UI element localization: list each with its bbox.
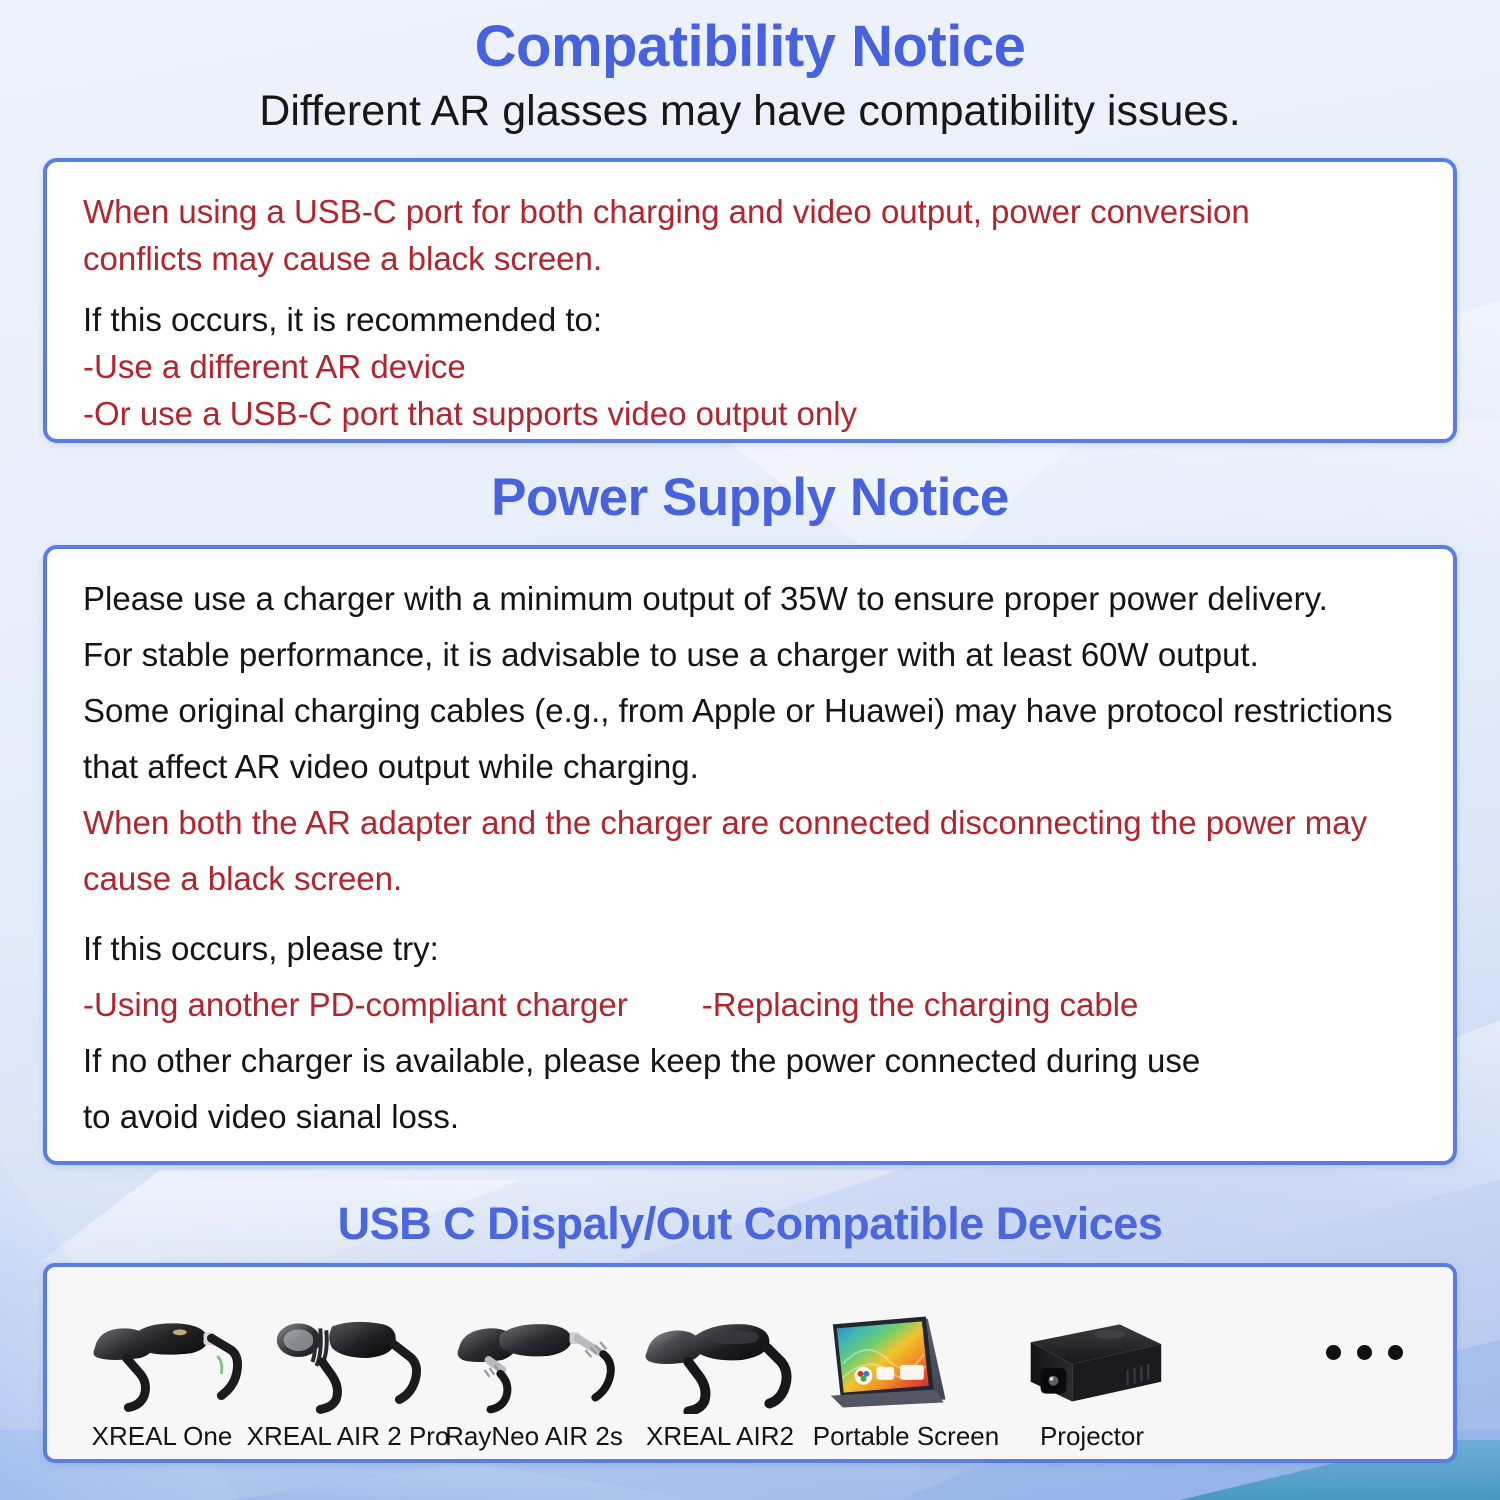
projector-icon (1003, 1303, 1181, 1415)
device-label: Projector (1040, 1421, 1144, 1451)
compat-option-2: -Or use a USB-C port that supports video… (83, 390, 1417, 437)
compat-option-1: -Use a different AR device (83, 343, 1417, 390)
device-item-xreal-air-2-pro[interactable]: XREAL AIR 2 Pro (255, 1277, 441, 1463)
compat-warning-line-2: conflicts may cause a black screen. (83, 235, 1417, 282)
power-closing-line-2: to avoid video sianal loss. (83, 1089, 1419, 1145)
spacer (83, 907, 1419, 921)
portable-monitor-icon (817, 1303, 995, 1415)
compat-prompt: If this occurs, it is recommended to: (83, 296, 1417, 343)
power-prompt: If this occurs, please try: (83, 921, 1419, 977)
device-label: RayNeo AIR 2s (445, 1421, 623, 1451)
ar-glasses-icon (259, 1303, 437, 1415)
power-line-1: Please use a charger with a minimum outp… (83, 571, 1419, 627)
device-label: XREAL One (92, 1421, 233, 1451)
page-title-compatibility: Compatibility Notice (0, 14, 1500, 80)
more-devices-button[interactable] (1289, 1277, 1439, 1463)
power-warning-line-2: cause a black screen. (83, 851, 1419, 907)
device-item-portable-screen[interactable]: Portable Screen (813, 1277, 999, 1463)
infographic-page: Compatibility Notice Different AR glasse… (0, 0, 1500, 1500)
more-dots-icon (1326, 1345, 1403, 1360)
ar-glasses-icon (631, 1303, 809, 1415)
compatible-devices-strip: XREAL One (43, 1263, 1457, 1463)
page-title-compatible-devices: USB C Dispaly/Out Compatible Devices (0, 1196, 1500, 1252)
power-options-row: -Using another PD-compliant charger -Rep… (83, 977, 1419, 1033)
spacer (83, 282, 1417, 296)
ar-glasses-icon (73, 1303, 251, 1415)
device-item-rayneo-air-2s[interactable]: RayNeo AIR 2s (441, 1277, 627, 1463)
power-supply-notice-box: Please use a charger with a minimum outp… (43, 545, 1457, 1165)
device-label: XREAL AIR 2 Pro (247, 1421, 450, 1451)
power-option-2: -Replacing the charging cable (702, 977, 1139, 1033)
device-label: XREAL AIR2 (646, 1421, 794, 1451)
ar-glasses-icon (445, 1303, 623, 1415)
device-label: Portable Screen (813, 1421, 999, 1451)
power-line-3: Some original charging cables (e.g., fro… (83, 683, 1419, 739)
power-line-2: For stable performance, it is advisable … (83, 627, 1419, 683)
power-closing-line-1: If no other charger is available, please… (83, 1033, 1419, 1089)
subtitle-compatibility: Different AR glasses may have compatibil… (0, 84, 1500, 138)
device-item-xreal-air2[interactable]: XREAL AIR2 (627, 1277, 813, 1463)
page-title-power-supply: Power Supply Notice (0, 466, 1500, 530)
device-item-projector[interactable]: Projector (999, 1277, 1185, 1463)
power-option-1: -Using another PD-compliant charger (83, 977, 628, 1033)
compat-warning-line-1: When using a USB-C port for both chargin… (83, 188, 1417, 235)
power-warning-line-1: When both the AR adapter and the charger… (83, 795, 1419, 851)
power-line-4: that affect AR video output while chargi… (83, 739, 1419, 795)
compatibility-notice-box: When using a USB-C port for both chargin… (43, 158, 1457, 443)
device-item-xreal-one[interactable]: XREAL One (69, 1277, 255, 1463)
